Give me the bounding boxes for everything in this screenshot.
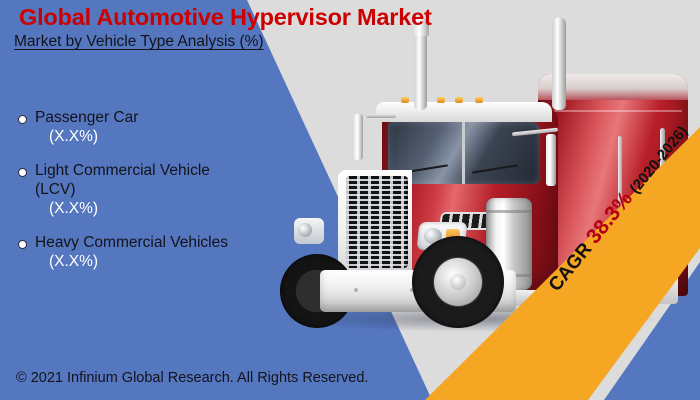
truck-fuel-tank-strap [486, 210, 532, 213]
truck-marker-lamp [401, 97, 409, 103]
truck-sleeper-trim [544, 110, 682, 112]
truck-front-wheel-hub [450, 274, 466, 290]
truck-exhaust-stack-front [414, 24, 427, 110]
segment-value: (X.X%) [49, 127, 233, 146]
truck-marker-lamp [437, 97, 445, 103]
truck-bumper-bolt [354, 288, 358, 292]
infographic-canvas: CAGR 38.3% (2020-2026) Global Automotive… [0, 0, 700, 400]
page-subtitle: Market by Vehicle Type Analysis (%) [14, 33, 264, 51]
truck-sun-visor [376, 102, 552, 122]
segment-label: Heavy Commercial Vehicles [35, 233, 228, 252]
segment-value: (X.X%) [49, 199, 233, 218]
bullet-dot-icon [18, 115, 27, 124]
page-title: Global Automotive Hypervisor Market [19, 4, 432, 31]
bullet-dot-icon [18, 240, 27, 249]
list-item: Light Commercial Vehicle (LCV) (X.X%) [18, 161, 233, 218]
truck-mirror-arm-left [366, 114, 396, 118]
truck-exhaust-stack-rear [552, 18, 566, 110]
truck-mirror-left [354, 114, 363, 160]
segment-label: Passenger Car [35, 108, 138, 127]
list-item: Passenger Car (X.X%) [18, 108, 233, 146]
segment-value: (X.X%) [49, 252, 233, 271]
vehicle-type-list: Passenger Car (X.X%) Light Commercial Ve… [18, 108, 233, 286]
truck-headlight-lens-left [298, 223, 312, 237]
list-item: Heavy Commercial Vehicles (X.X%) [18, 233, 233, 271]
truck-mirror-right [546, 134, 556, 186]
truck-grille-vertical-bars [346, 176, 408, 268]
truck-windshield-divider [462, 122, 465, 184]
bullet-dot-icon [18, 168, 27, 177]
segment-label: Light Commercial Vehicle (LCV) [35, 161, 233, 199]
truck-marker-lamp [475, 97, 483, 103]
truck-marker-lamp [455, 97, 463, 103]
copyright-notice: © 2021 Infinium Global Research. All Rig… [16, 370, 368, 386]
